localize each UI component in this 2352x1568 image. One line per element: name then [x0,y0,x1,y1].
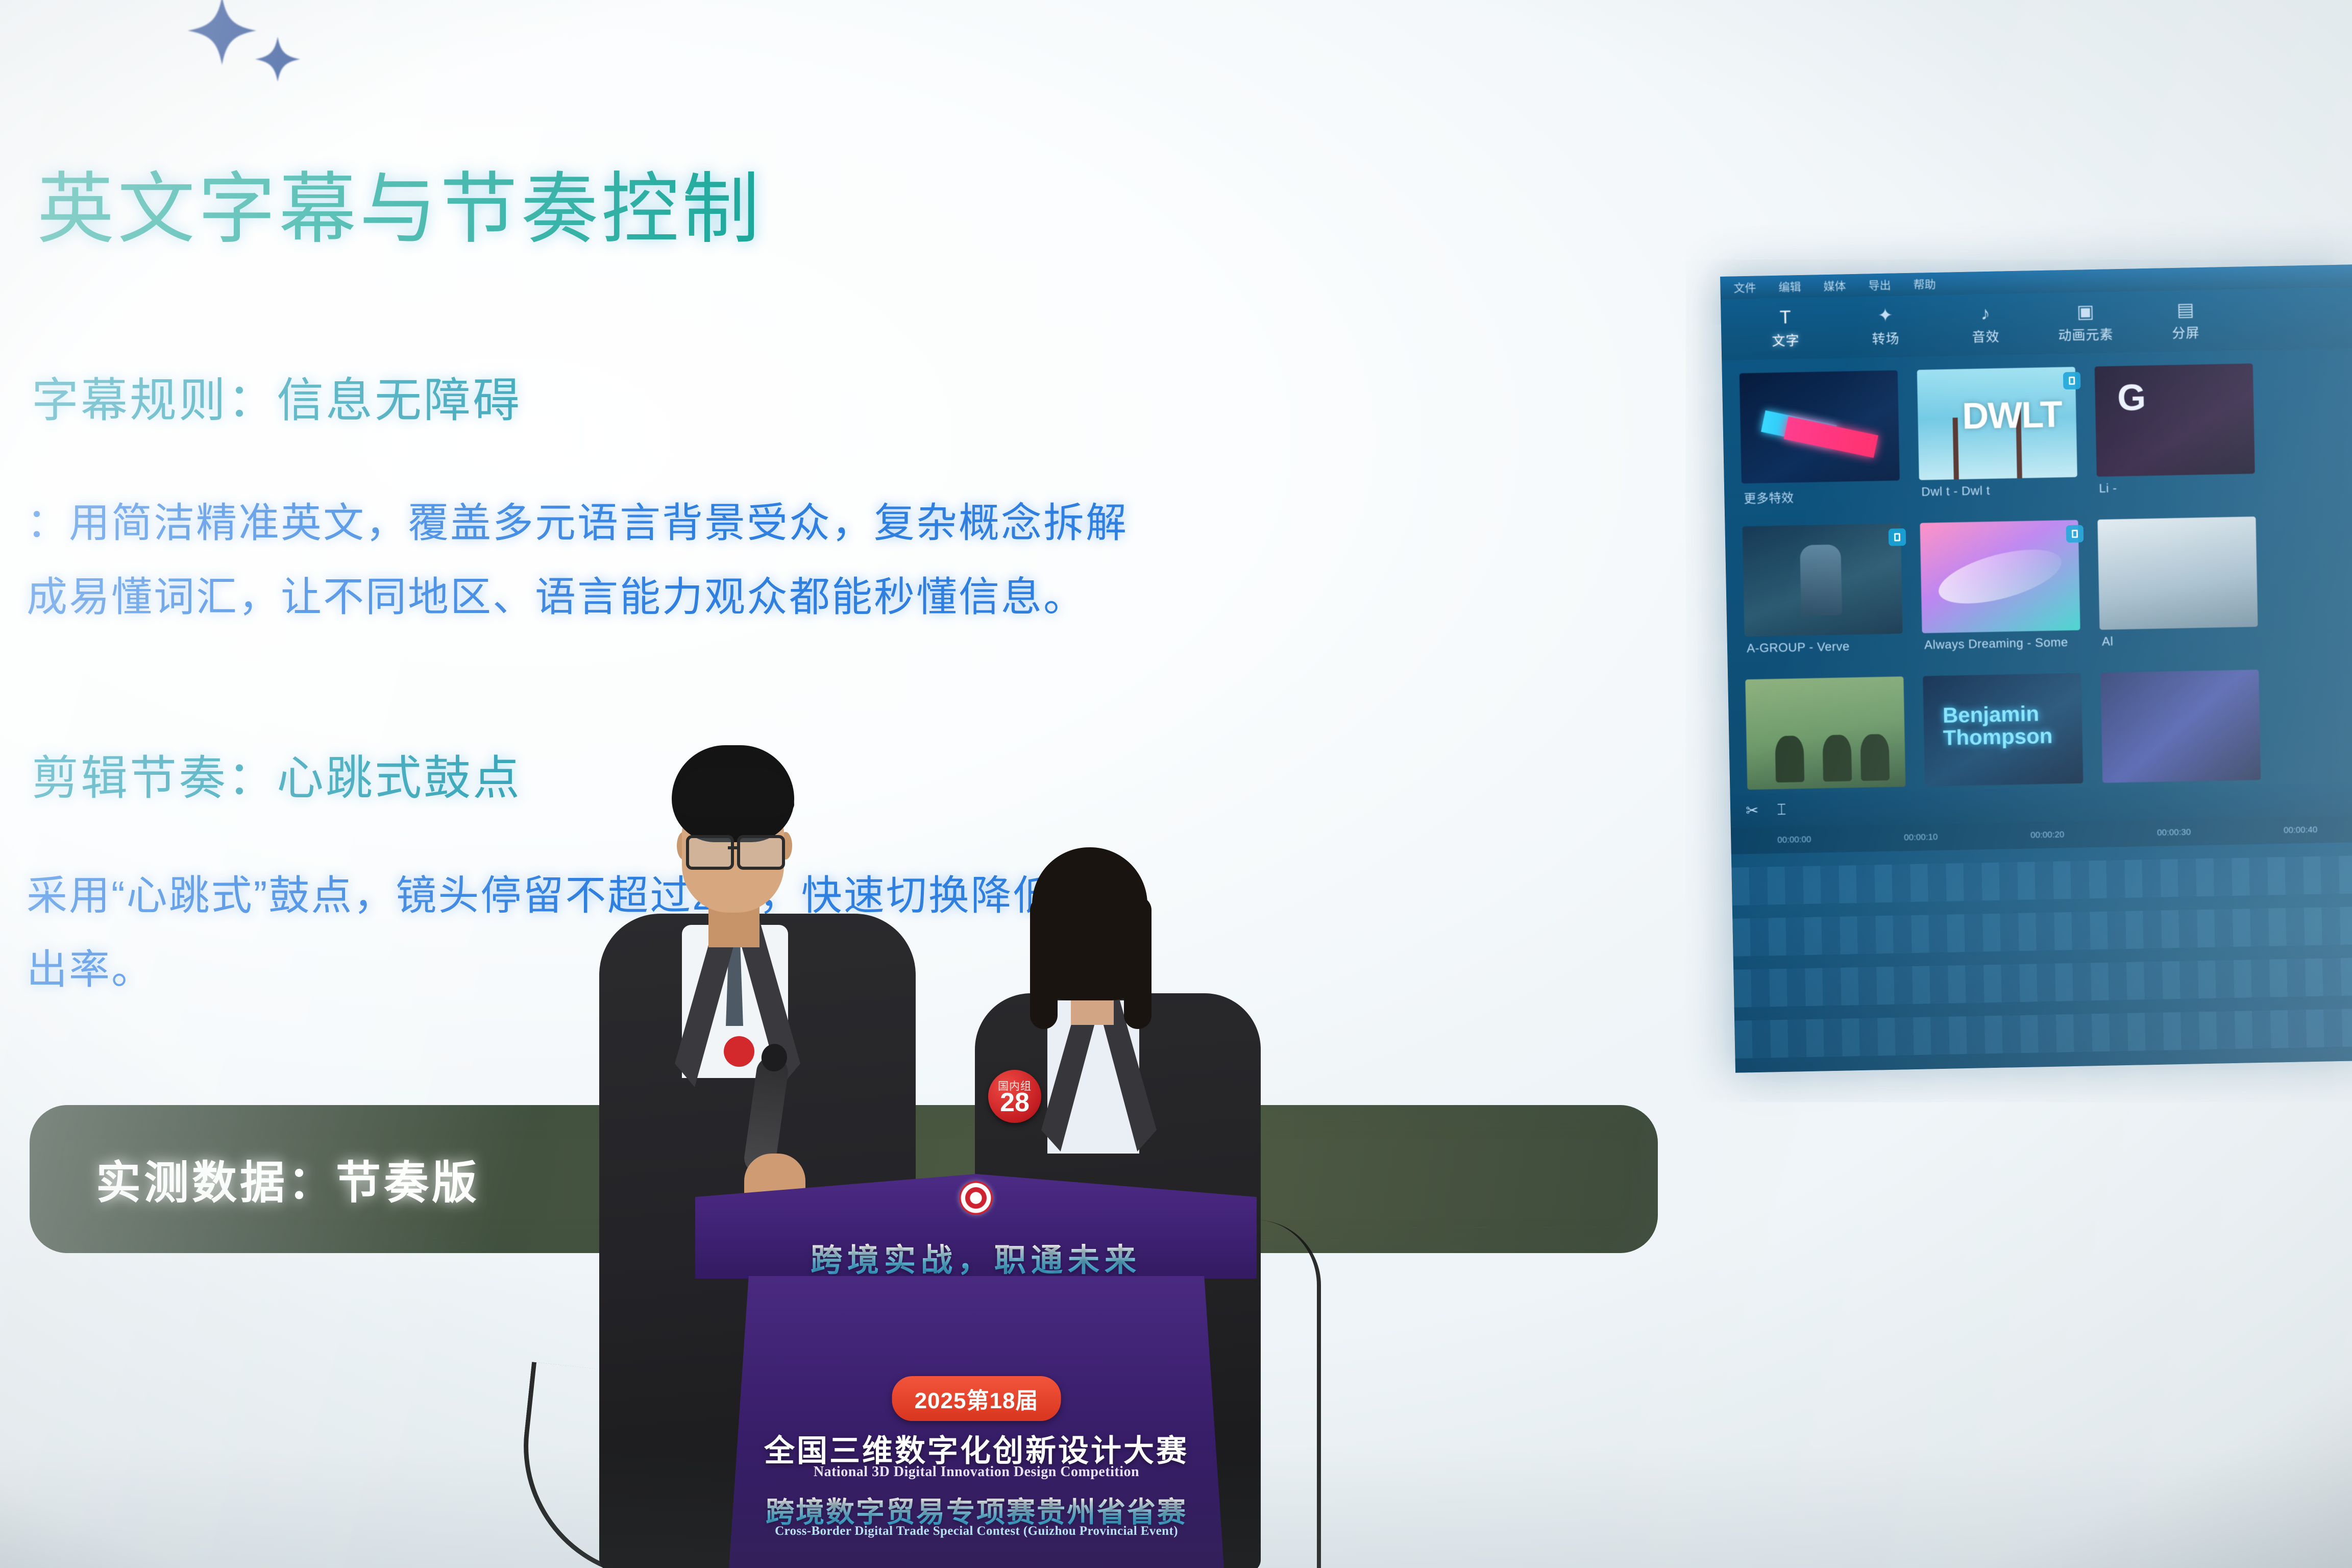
ruler-mark: 00:00:20 [1984,829,2111,842]
ruler-mark: 00:00:10 [1857,831,1984,844]
media-caption: Li - [2099,479,2257,496]
split-icon[interactable]: ⌶ [1777,801,1786,819]
menu-item[interactable]: 编辑 [1778,278,1801,295]
tool-transition[interactable]: ✦ 转场 [1835,305,1936,348]
tool-animation[interactable]: ▣ 动画元素 [2035,301,2136,345]
tool-label: 转场 [1835,327,1936,348]
menu-item[interactable]: 帮助 [1913,276,1936,292]
tool-label: 音效 [1935,326,2036,347]
tool-splitscreen[interactable]: ▤ 分屏 [2135,299,2236,342]
audio-icon: ♪ [1935,303,2036,324]
ruler-mark: 00:00:00 [1731,834,1857,846]
stage-photo: 英文字幕与节奏控制 字幕规则：信息无障碍 ：用简洁精准英文，覆盖多元语言背景受众… [0,0,2352,1568]
measured-data-label: 实测数据：节奏版 [96,1147,480,1212]
media-thumbnail [1745,676,1905,790]
section-body-line: 出率。 [27,937,154,1003]
media-cell[interactable]: DWLT Dwl t - Dwl t [1917,366,2088,516]
media-caption: Al [2102,632,2260,649]
ruler-mark: 00:00:30 [2111,826,2237,839]
media-thumbnail: G [2095,363,2255,477]
media-thumbnail [1920,520,2080,633]
editor-media-grid: 更多特效 DWLT Dwl t - Dwl t G Li - [1722,348,2352,794]
editor-timeline[interactable] [1731,842,2352,1073]
section-body-line: 采用“心跳式”鼓点，镜头停留不超过2秒，快速切换降低跳 [27,863,1098,929]
media-caption: A-GROUP - Verve [1747,639,1905,656]
sparkle-small-icon [253,36,303,83]
section-heading-subtitle-rules: 字幕规则：信息无障碍 [32,375,522,427]
media-thumbnail [1739,370,1900,483]
menu-item[interactable]: 导出 [1868,277,1891,293]
video-editor-screenshot: 文件 编辑 媒体 导出 帮助 T 文字 ✦ 转场 ♪ 音效 [1720,264,2352,1073]
tool-text[interactable]: T 文字 [1735,307,1836,350]
media-caption: Dwl t - Dwl t [1921,482,2079,500]
menu-item[interactable]: 媒体 [1823,277,1846,294]
tool-label: 分屏 [2136,322,2236,342]
media-thumbnail [1743,523,1903,636]
measured-data-bar: 实测数据：节奏版 [30,1105,1658,1253]
media-cell[interactable]: G Li - [2095,363,2266,512]
cut-icon[interactable]: ✂ [1746,801,1759,819]
section-heading-edit-rhythm: 剪辑节奏：心跳式鼓点 [32,753,522,804]
splitscreen-icon: ▤ [2135,299,2236,320]
media-thumbnail: BenjaminThompson [1923,673,2083,787]
media-thumbnail: DWLT [1917,367,2077,480]
media-cell[interactable]: A-GROUP - Verve [1743,523,1914,672]
sparkle-large-icon [184,0,260,66]
text-icon: T [1735,307,1835,327]
media-thumbnail [2097,517,2258,630]
media-cell[interactable]: Al [2097,517,2268,666]
animation-icon: ▣ [2035,301,2136,322]
sparkle-decoration [168,0,352,122]
tool-audio[interactable]: ♪ 音效 [1935,303,2036,347]
transition-icon: ✦ [1835,305,1935,325]
media-cell[interactable]: Always Dreaming - Some [1920,520,2091,669]
menu-item[interactable]: 文件 [1733,279,1756,296]
section-body-line: ：用简洁精准英文，覆盖多元语言背景受众，复杂概念拆解 [27,490,1128,556]
media-caption: Always Dreaming - Some [1924,635,2082,653]
media-select-badge[interactable] [2066,525,2084,543]
media-select-badge[interactable] [2063,372,2081,390]
media-caption: 更多特效 [1744,485,1902,506]
projection-slide: 英文字幕与节奏控制 字幕规则：信息无障碍 ：用简洁精准英文，覆盖多元语言背景受众… [0,0,2352,1568]
section-body-line: 成易懂词汇，让不同地区、语言能力观众都能秒懂信息。 [27,564,1086,630]
media-cell[interactable]: 更多特效 [1739,370,1910,519]
tool-label: 文字 [1735,329,1836,350]
ruler-mark: 00:00:40 [2237,824,2352,837]
editor-toolbar: T 文字 ✦ 转场 ♪ 音效 ▣ 动画元素 ▤ 分屏 [1721,287,2352,360]
media-thumbnail [2100,670,2261,783]
slide-headline: 英文字幕与节奏控制 [37,168,763,251]
media-select-badge[interactable] [1889,528,1906,546]
tool-label: 动画元素 [2036,324,2136,345]
